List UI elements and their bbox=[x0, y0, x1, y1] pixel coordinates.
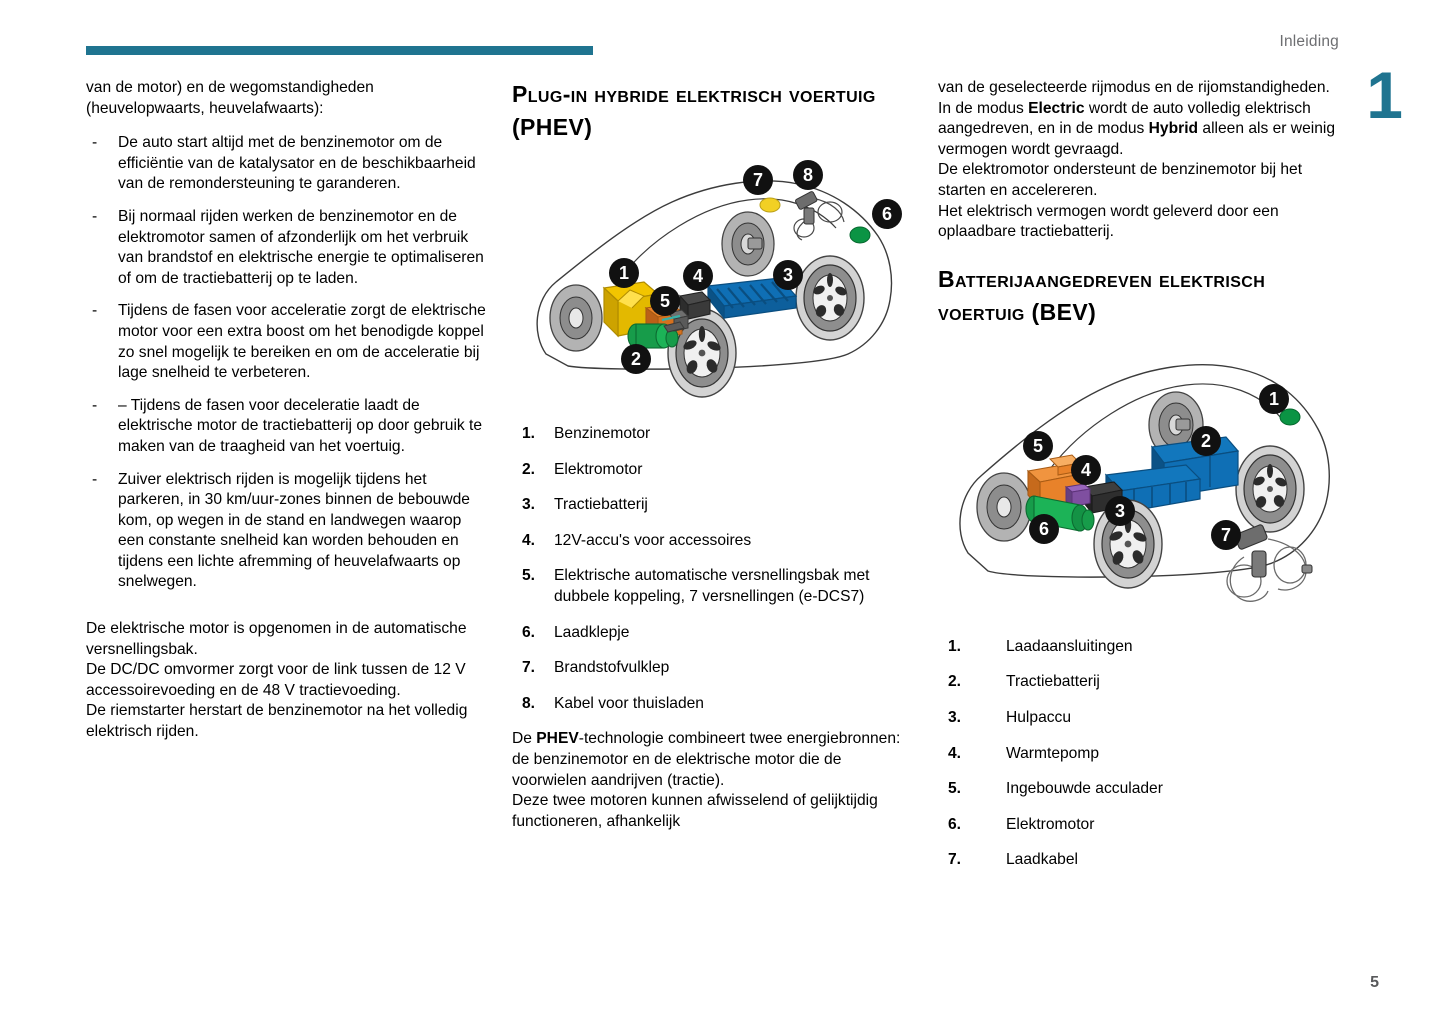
callout-5: 5 bbox=[650, 286, 680, 316]
callout-5: 5 bbox=[1023, 431, 1053, 461]
list-item-label: Zuiver elektrisch rijden is mogelijk tij… bbox=[118, 471, 470, 591]
phev-component-list: 1. Benzinemotor 2. Elektromotor 3. Tract… bbox=[512, 424, 912, 714]
dash-marker: - bbox=[92, 133, 97, 154]
list-item-number: 8. bbox=[522, 694, 535, 715]
list-item-label: Tractiebatterij bbox=[554, 496, 648, 513]
list-item-label: Laadaansluitingen bbox=[1006, 638, 1133, 655]
svg-text:1: 1 bbox=[1269, 389, 1279, 409]
list-item: - De auto start altijd met de benzinemot… bbox=[86, 133, 486, 195]
list-item-label: Brandstofvulklep bbox=[554, 659, 669, 676]
page-number: 5 bbox=[1370, 974, 1379, 992]
dash-marker: - bbox=[92, 301, 97, 322]
right-column: van de geselecteerde rijmodus en de rijo… bbox=[938, 78, 1338, 886]
callout-8: 8 bbox=[793, 160, 823, 190]
list-item-number: 6. bbox=[522, 623, 535, 644]
phev-closing-paragraph: De PHEV-technologie combineert twee ener… bbox=[512, 729, 912, 832]
list-item: - Tijdens de fasen voor acceleratie zorg… bbox=[86, 301, 486, 383]
list-item: 1. Laadaansluitingen bbox=[938, 637, 1338, 658]
rear-brake-assembly bbox=[722, 212, 774, 276]
list-item-number: 1. bbox=[948, 637, 961, 658]
list-item-number: 6. bbox=[948, 815, 961, 836]
list-item-label: Laadkabel bbox=[1006, 851, 1078, 868]
bev-section-title: Batterijaangedreven elektrisch voertuig … bbox=[938, 263, 1338, 329]
svg-text:5: 5 bbox=[660, 291, 670, 311]
bev-diagram: 1 2 3 4 5 6 7 bbox=[938, 339, 1338, 621]
bev-component-list: 1. Laadaansluitingen 2. Tractiebatterij … bbox=[938, 637, 1338, 871]
list-item: 4. 12V-accu's voor accessoires bbox=[512, 531, 912, 552]
list-item-label: De auto start altijd met de benzinemotor… bbox=[118, 134, 476, 192]
svg-text:3: 3 bbox=[1115, 501, 1125, 521]
svg-text:4: 4 bbox=[693, 266, 703, 286]
callout-4: 4 bbox=[1071, 455, 1101, 485]
svg-text:2: 2 bbox=[631, 349, 641, 369]
bev-cutaway-svg: 1 2 3 4 5 6 7 bbox=[938, 339, 1338, 621]
list-item-label: Kabel voor thuisladen bbox=[554, 695, 704, 712]
dash-marker: - bbox=[92, 207, 97, 228]
svg-text:8: 8 bbox=[803, 165, 813, 185]
callout-3: 3 bbox=[1105, 496, 1135, 526]
middle-column: Plug-in hybride elektrisch voertuig (PHE… bbox=[512, 78, 912, 832]
svg-text:7: 7 bbox=[1221, 525, 1231, 545]
list-item-label: Elektromotor bbox=[554, 461, 642, 478]
phev-diagram: 1 2 3 4 5 6 7 bbox=[512, 158, 912, 410]
phev-cutaway-svg: 1 2 3 4 5 6 7 bbox=[512, 158, 912, 410]
list-item: 5. Elektrische automatische versnellings… bbox=[512, 566, 912, 607]
callout-4: 4 bbox=[683, 261, 713, 291]
callout-2: 2 bbox=[621, 344, 651, 374]
list-item: - Zuiver elektrisch rijden is mogelijk t… bbox=[86, 470, 486, 594]
list-item-number: 7. bbox=[948, 850, 961, 871]
rear-wheel bbox=[796, 256, 864, 340]
list-item: 6. Laadklepje bbox=[512, 623, 912, 644]
callout-6: 6 bbox=[872, 199, 902, 229]
dash-marker: - bbox=[92, 396, 97, 417]
rear-wheel bbox=[1236, 446, 1304, 532]
callout-1: 1 bbox=[609, 258, 639, 288]
list-item-number: 4. bbox=[522, 531, 535, 552]
list-item-number: 3. bbox=[522, 495, 535, 516]
left-column: van de motor) en de wegomstandigheden (h… bbox=[86, 78, 486, 743]
list-item-label: Benzinemotor bbox=[554, 425, 650, 442]
chapter-number: 1 bbox=[1366, 62, 1403, 128]
svg-text:5: 5 bbox=[1033, 436, 1043, 456]
list-item: 8. Kabel voor thuisladen bbox=[512, 694, 912, 715]
list-item-number: 2. bbox=[948, 672, 961, 693]
callout-1: 1 bbox=[1259, 384, 1289, 414]
mode-electric-keyword: Electric bbox=[1028, 100, 1084, 117]
list-item: - – Tijdens de fasen voor deceleratie la… bbox=[86, 396, 486, 458]
charging-plug bbox=[1252, 551, 1266, 577]
right-paragraph-1: van de geselecteerde rijmodus en de rijo… bbox=[938, 78, 1338, 99]
list-item-label: Bij normaal rijden werken de benzinemoto… bbox=[118, 208, 484, 287]
charge-flap-marker bbox=[850, 227, 870, 243]
right-paragraph-3: De elektromotor ondersteunt de benzinemo… bbox=[938, 160, 1338, 201]
callout-2: 2 bbox=[1191, 426, 1221, 456]
list-item-label: Warmtepomp bbox=[1006, 745, 1099, 762]
list-item-number: 1. bbox=[522, 424, 535, 445]
phev-section-title: Plug-in hybride elektrisch voertuig (PHE… bbox=[512, 78, 912, 144]
closing-lead: De bbox=[512, 730, 536, 747]
svg-text:6: 6 bbox=[882, 204, 892, 224]
right-paragraph-4: Het elektrisch vermogen wordt geleverd d… bbox=[938, 202, 1338, 243]
left-closing-paragraph: De elektrische motor is opgenomen in de … bbox=[86, 619, 486, 743]
svg-text:2: 2 bbox=[1201, 431, 1211, 451]
front-wheel-left bbox=[977, 473, 1031, 541]
list-item-label: Tijdens de fasen voor acceleratie zorgt … bbox=[118, 302, 486, 381]
right-p2-pre: In de modus bbox=[938, 100, 1028, 117]
callout-7: 7 bbox=[743, 165, 773, 195]
list-item-number: 2. bbox=[522, 460, 535, 481]
list-item-number: 3. bbox=[948, 708, 961, 729]
svg-text:1: 1 bbox=[619, 263, 629, 283]
phev-keyword: PHEV bbox=[536, 730, 578, 747]
list-item: 2. Elektromotor bbox=[512, 460, 912, 481]
list-item: - Bij normaal rijden werken de benzinemo… bbox=[86, 207, 486, 289]
list-item-label: Hulpaccu bbox=[1006, 709, 1071, 726]
svg-text:3: 3 bbox=[783, 265, 793, 285]
wall-plug bbox=[1302, 565, 1312, 573]
list-item: 3. Tractiebatterij bbox=[512, 495, 912, 516]
right-paragraph-2: In de modus Electric wordt de auto volle… bbox=[938, 99, 1338, 161]
list-item: 4. Warmtepomp bbox=[938, 744, 1338, 765]
header-section-label: Inleiding bbox=[1279, 33, 1339, 51]
list-item: 5. Ingebouwde acculader bbox=[938, 779, 1338, 800]
mode-hybrid-keyword: Hybrid bbox=[1149, 120, 1198, 137]
list-item: 2. Tractiebatterij bbox=[938, 672, 1338, 693]
charge-port-marker bbox=[1280, 409, 1300, 425]
list-item-number: 7. bbox=[522, 658, 535, 679]
left-bullet-list: - De auto start altijd met de benzinemot… bbox=[86, 133, 486, 593]
list-item: 1. Benzinemotor bbox=[512, 424, 912, 445]
list-item: 6. Elektromotor bbox=[938, 815, 1338, 836]
list-item-label: Elektrische automatische versnellingsbak… bbox=[554, 567, 869, 605]
list-item-label: Tractiebatterij bbox=[1006, 673, 1100, 690]
svg-text:6: 6 bbox=[1039, 519, 1049, 539]
list-item: 7. Brandstofvulklep bbox=[512, 658, 912, 679]
svg-text:7: 7 bbox=[753, 170, 763, 190]
dash-marker: - bbox=[92, 470, 97, 491]
left-intro-paragraph: van de motor) en de wegomstandigheden (h… bbox=[86, 78, 486, 119]
header-accent-bar bbox=[86, 46, 593, 55]
list-item-label: Laadklepje bbox=[554, 624, 629, 641]
list-item-number: 4. bbox=[948, 744, 961, 765]
svg-text:4: 4 bbox=[1081, 460, 1091, 480]
list-item-label: Elektromotor bbox=[1006, 816, 1094, 833]
list-item-label: 12V-accu's voor accessoires bbox=[554, 532, 751, 549]
list-item: 7. Laadkabel bbox=[938, 850, 1338, 871]
list-item-label: Ingebouwde acculader bbox=[1006, 780, 1163, 797]
callout-7: 7 bbox=[1211, 520, 1241, 550]
callout-3: 3 bbox=[773, 260, 803, 290]
list-item-number: 5. bbox=[948, 779, 961, 800]
list-item-number: 5. bbox=[522, 566, 535, 587]
list-item-label: – Tijdens de fasen voor deceleratie laad… bbox=[118, 397, 482, 455]
list-item: 3. Hulpaccu bbox=[938, 708, 1338, 729]
front-wheel-left bbox=[550, 285, 602, 351]
fuel-flap-marker bbox=[760, 198, 780, 212]
callout-6: 6 bbox=[1029, 514, 1059, 544]
